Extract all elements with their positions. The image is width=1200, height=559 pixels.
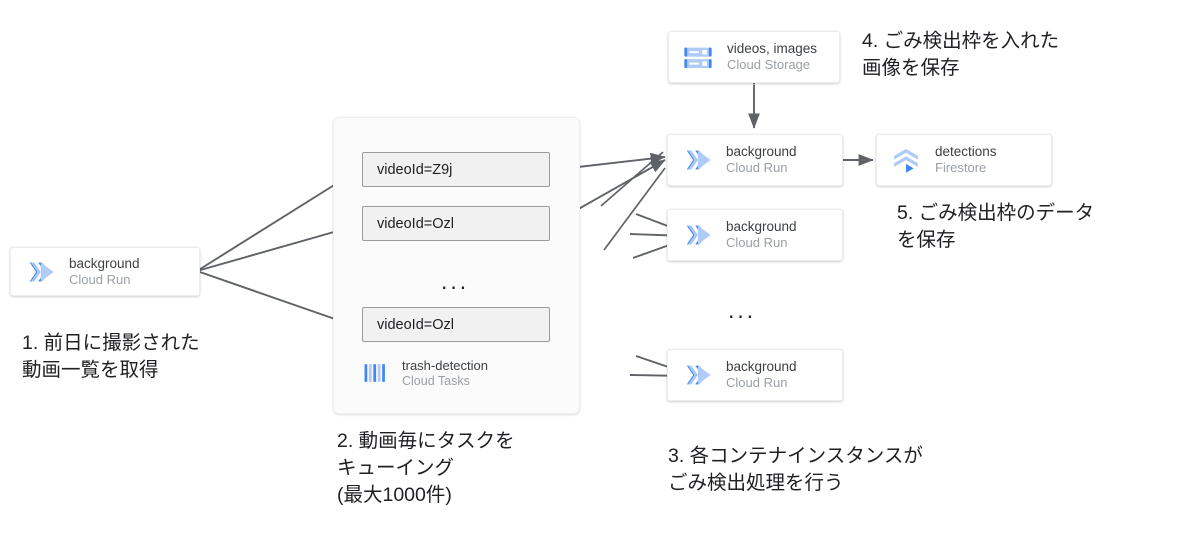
- cloud-tasks-icon: [361, 358, 391, 388]
- cloud-storage-icon: [681, 40, 715, 74]
- node-title: background: [726, 144, 797, 160]
- caption-step-5: 5. ごみ検出枠のデータ を保存: [897, 200, 1200, 254]
- node-title: background: [69, 256, 140, 272]
- caption-step-3: 3. 各コンテナインスタンスが ごみ検出処理を行う: [668, 443, 1028, 497]
- node-worker-cloud-run[interactable]: background Cloud Run: [667, 209, 843, 261]
- firestore-icon: [889, 143, 923, 177]
- task-box[interactable]: videoId=Ozl: [362, 307, 550, 342]
- node-cloud-tasks[interactable]: trash-detection Cloud Tasks: [361, 358, 488, 389]
- node-scheduler-cloud-run[interactable]: background Cloud Run: [10, 247, 200, 296]
- task-box[interactable]: videoId=Ozl: [362, 206, 550, 241]
- cloud-run-icon: [680, 218, 714, 252]
- cloud-run-icon: [680, 143, 714, 177]
- task-label: videoId=Z9j: [377, 162, 452, 178]
- node-subtitle: Cloud Run: [69, 272, 140, 287]
- tasks-ellipsis: ...: [441, 268, 469, 295]
- node-worker-cloud-run[interactable]: background Cloud Run: [667, 349, 843, 401]
- node-subtitle: Cloud Run: [726, 160, 797, 175]
- node-cloud-storage[interactable]: videos, images Cloud Storage: [668, 31, 840, 83]
- node-subtitle: Cloud Tasks: [402, 374, 488, 389]
- node-subtitle: Cloud Run: [726, 235, 797, 250]
- node-subtitle: Cloud Run: [726, 375, 797, 390]
- node-subtitle: Cloud Storage: [727, 57, 817, 72]
- task-label: videoId=Ozl: [377, 317, 454, 333]
- node-title: background: [726, 219, 797, 235]
- cloud-run-icon: [680, 358, 714, 392]
- task-box[interactable]: videoId=Z9j: [362, 152, 550, 187]
- node-title: videos, images: [727, 41, 817, 57]
- workers-ellipsis: ...: [728, 297, 756, 324]
- cloud-run-icon: [23, 255, 57, 289]
- task-label: videoId=Ozl: [377, 216, 454, 232]
- diagram-canvas: background Cloud Run videoId=Z9j videoId…: [0, 0, 1200, 559]
- node-title: trash-detection: [402, 358, 488, 374]
- caption-step-4: 4. ごみ検出枠を入れた 画像を保存: [862, 28, 1192, 82]
- node-title: background: [726, 359, 797, 375]
- caption-step-1: 1. 前日に撮影された 動画一覧を取得: [22, 330, 332, 384]
- node-worker-cloud-run[interactable]: background Cloud Run: [667, 134, 843, 186]
- node-subtitle: Firestore: [935, 160, 997, 175]
- node-title: detections: [935, 144, 997, 160]
- node-firestore[interactable]: detections Firestore: [876, 134, 1052, 186]
- caption-step-2: 2. 動画毎にタスクを キューイング (最大1000件): [337, 428, 637, 509]
